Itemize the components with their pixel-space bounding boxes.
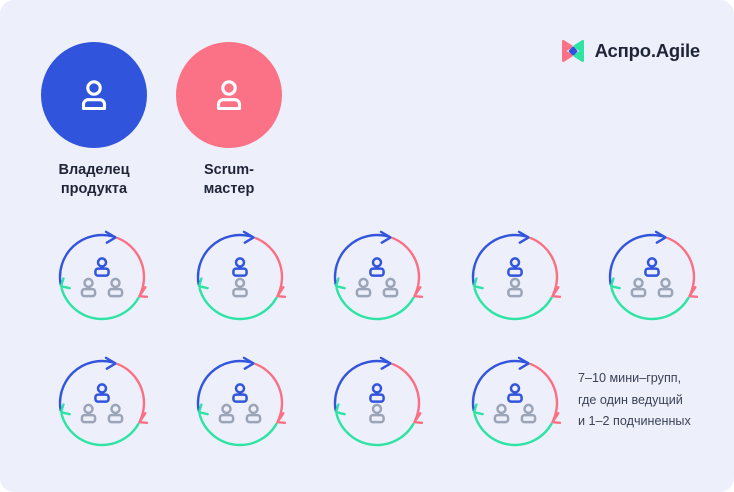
cycle-team-icon	[319, 345, 435, 461]
cycle-team-icon	[457, 345, 573, 461]
role-scrum-master-label: Scrum- мастер	[176, 161, 282, 198]
brand-name: Аспро.Agile	[595, 42, 700, 61]
mini-groups-note: 7–10 мини–групп, где один ведущий и 1–2 …	[578, 368, 728, 433]
role-product-owner-circle	[41, 42, 147, 148]
brand-logo: Аспро.Agile	[560, 38, 700, 64]
team-cycle-team-2	[182, 219, 298, 335]
person-icon	[208, 74, 250, 116]
team-cycle-team-7	[182, 345, 298, 461]
role-scrum-master-circle	[176, 42, 282, 148]
team-cycle-team-4	[457, 219, 573, 335]
role-scrum-master: Scrum- мастер	[176, 42, 282, 198]
cycle-team-icon	[44, 219, 160, 335]
role-product-owner: Владелец продукта	[41, 42, 147, 198]
aspro-bowtie-icon	[560, 38, 586, 64]
role-product-owner-label: Владелец продукта	[41, 161, 147, 198]
team-cycle-team-8	[319, 345, 435, 461]
cycle-team-icon	[594, 219, 710, 335]
cycle-team-icon	[182, 219, 298, 335]
team-cycle-team-9	[457, 345, 573, 461]
team-cycle-team-3	[319, 219, 435, 335]
cycle-team-icon	[44, 345, 160, 461]
cycle-team-icon	[457, 219, 573, 335]
person-icon	[73, 74, 115, 116]
cycle-team-icon	[319, 219, 435, 335]
team-cycle-team-1	[44, 219, 160, 335]
cycle-team-icon	[182, 345, 298, 461]
team-cycle-team-5	[594, 219, 710, 335]
diagram-canvas: Аспро.Agile Владелец продукта Scrum- мас…	[0, 0, 734, 492]
team-cycle-team-6	[44, 345, 160, 461]
